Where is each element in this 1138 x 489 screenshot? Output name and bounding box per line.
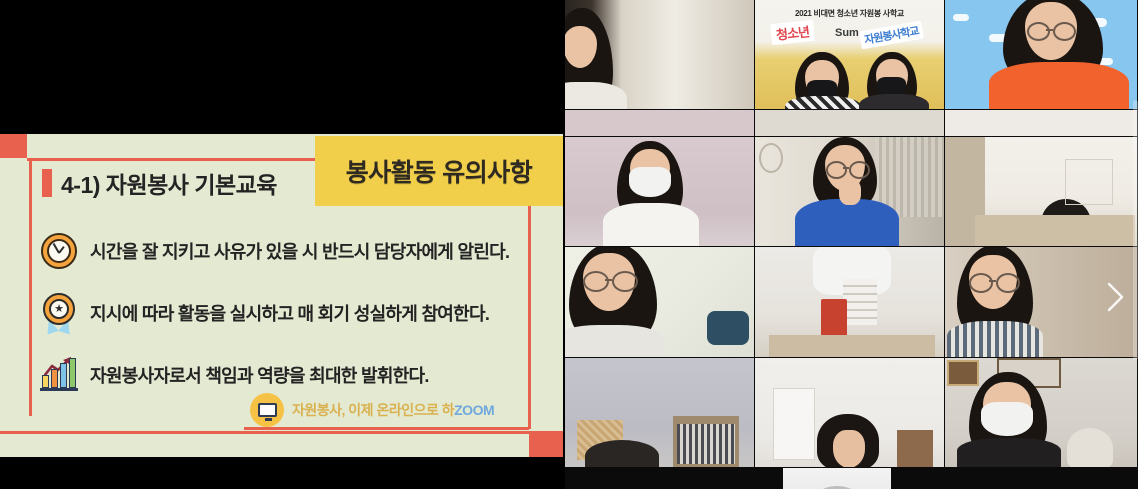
participant-tile-2-banner[interactable]: 2021 비대면 청소년 자원봉 사학교 청소년 Sum 자원봉사학교: [755, 0, 945, 110]
decor-rule-horizontal-footer: [244, 427, 529, 430]
footer-text: 자원봉사, 이제 온라인으로 하ZOOM: [292, 400, 494, 420]
slide-title-chip: 봉사활동 유의사항: [315, 136, 563, 206]
monitor-icon: [250, 393, 284, 427]
bar-chart-icon: [38, 354, 80, 396]
slide-footer-lockup: 자원봉사, 이제 온라인으로 하ZOOM: [250, 393, 494, 427]
participant-tile-6[interactable]: [945, 137, 1138, 247]
decor-coral-block-top-left: [0, 134, 27, 158]
chevron-right-icon[interactable]: [1100, 278, 1130, 316]
participant-tile-7[interactable]: [565, 247, 755, 358]
participant-tile-3[interactable]: [945, 0, 1138, 110]
slide-bullet-1: 시간을 잘 지키고 사유가 있을 시 반드시 담당자에게 알린다.: [38, 230, 509, 272]
slide-bullet-2: ★ 지시에 따라 활동을 실시하고 매 회기 성실하게 참여한다.: [38, 292, 489, 334]
row-bleed-3: [945, 110, 1138, 137]
row-bleed-1: [565, 110, 755, 137]
bullet-2-text: 지시에 따라 활동을 실시하고 매 회기 성실하게 참여한다.: [90, 300, 489, 326]
participant-tile-4[interactable]: [565, 137, 755, 247]
decor-coral-block-bottom-right: [529, 431, 563, 457]
participant-grid: 2021 비대면 청소년 자원봉 사학교 청소년 Sum 자원봉사학교: [565, 0, 1138, 489]
bullet-1-text: 시간을 잘 지키고 사유가 있을 시 반드시 담당자에게 알린다.: [90, 238, 509, 264]
bottom-row-right[interactable]: [945, 468, 1138, 489]
participant-tile-12[interactable]: [945, 358, 1138, 468]
slide-section-heading: 4-1) 자원봉사 기본교육: [42, 166, 277, 200]
heading-accent-bar: [42, 169, 52, 197]
clock-icon: [38, 230, 80, 272]
video-gallery-region[interactable]: 2021 비대면 청소년 자원봉 사학교 청소년 Sum 자원봉사학교: [565, 0, 1138, 489]
footer-brand: ZOOM: [454, 402, 494, 418]
banner-headline: 2021 비대면 청소년 자원봉 사학교: [761, 8, 938, 19]
decor-rule-vertical-left: [29, 158, 32, 416]
slide-bullet-3: 자원봉사자로서 책임과 역량을 최대한 발휘한다.: [38, 354, 429, 396]
bullet-3-text: 자원봉사자로서 책임과 역량을 최대한 발휘한다.: [90, 362, 429, 388]
banner-sub-text: Sum: [835, 27, 859, 39]
medal-icon: ★: [38, 292, 80, 334]
participant-tile-1[interactable]: [565, 0, 755, 110]
gallery-scrollbar[interactable]: [1133, 100, 1138, 360]
participant-tile-13-partial[interactable]: [755, 468, 945, 489]
decor-rule-horizontal-bottom: [0, 431, 529, 434]
zoom-meeting-window: 봉사활동 유의사항 4-1) 자원봉사 기본교육 시간을 잘 지키고 사유가 있…: [0, 0, 1138, 489]
row-bleed-2: [755, 110, 945, 137]
participant-tile-10[interactable]: [565, 358, 755, 468]
footer-slogan: 자원봉사, 이제 온라인으로 하: [292, 402, 454, 418]
bottom-row-left[interactable]: [565, 468, 755, 489]
participant-tile-11[interactable]: [755, 358, 945, 468]
slide-title-text: 봉사활동 유의사항: [346, 153, 532, 189]
presentation-slide: 봉사활동 유의사항 4-1) 자원봉사 기본교육 시간을 잘 지키고 사유가 있…: [0, 134, 563, 457]
shared-screen-region[interactable]: 봉사활동 유의사항 4-1) 자원봉사 기본교육 시간을 잘 지키고 사유가 있…: [0, 0, 565, 489]
banner-sticker-left: 청소년: [770, 20, 815, 45]
section-heading-text: 4-1) 자원봉사 기본교육: [61, 166, 277, 200]
participant-tile-8[interactable]: [755, 247, 945, 358]
participant-tile-5[interactable]: [755, 137, 945, 247]
